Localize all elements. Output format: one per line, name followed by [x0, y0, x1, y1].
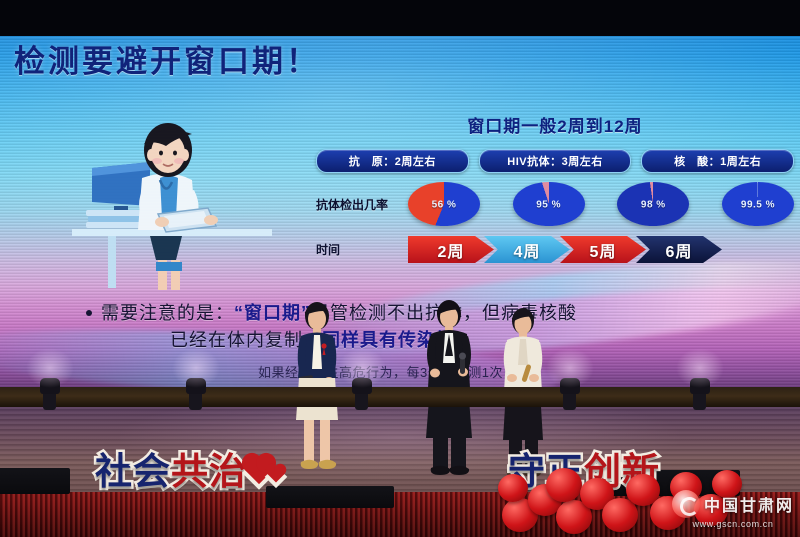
heart-icon-small [268, 466, 285, 483]
timeline-chevron-6weeks: 6周 [636, 236, 722, 263]
lighting-truss [0, 387, 800, 407]
top-black-bar [0, 0, 800, 36]
pie-value-label: 99.5 % [722, 200, 794, 211]
pie-chart-5weeks: 98 % [617, 182, 689, 226]
pill-antigen: 抗 原：2周左右 [316, 149, 469, 173]
screenshot-root: 检测要避开窗口期！ [0, 0, 800, 537]
watermark: 中国甘肃网 www.gscn.com.cn [672, 490, 794, 529]
pill-hiv-antibody: HIV抗体：3周左右 [479, 149, 632, 173]
pie-chart-6weeks: 99.5 % [722, 182, 794, 226]
bullet-text-prefix: 需要注意的是： [101, 303, 234, 323]
watermark-url: www.gscn.com.cn [672, 519, 794, 529]
pie-chart-row: 抗体检出几率 56 % 95 % 98 % 99.5 % [316, 182, 794, 226]
timeline-chevron-5weeks: 5周 [560, 236, 646, 263]
pie-chart-2weeks: 56 % [408, 182, 480, 226]
stage-monitor-left [0, 468, 70, 494]
gscn-logo-icon [672, 490, 700, 518]
prop-char: 会 [133, 452, 171, 492]
female-doctor-at-desk-illustration [72, 110, 282, 290]
slide-info-panel: 窗口期一般2周到12周 抗 原：2周左右 HIV抗体：3周左右 核 酸：1周左右… [316, 112, 794, 263]
prop-char: 社 [95, 452, 133, 492]
moving-light-far-right [690, 378, 710, 410]
marker-pills-group: 抗 原：2周左右 HIV抗体：3周左右 核 酸：1周左右 [316, 149, 794, 173]
prop-char: 共 [171, 452, 209, 492]
foam-prop-left: 社会共治 [95, 452, 282, 492]
bullet-dot-icon [86, 310, 92, 316]
pie-value-label: 98 % [617, 200, 689, 211]
stage-monitor-center [266, 486, 394, 508]
pie-chart-4weeks: 95 % [513, 182, 585, 226]
moving-light-right [560, 378, 580, 410]
watermark-site-name: 中国甘肃网 [704, 492, 794, 516]
pie-row-label: 抗体检出几率 [316, 196, 408, 213]
pie-value-label: 95 % [513, 200, 585, 211]
pie-chart-group: 56 % 95 % 98 % 99.5 % [408, 182, 794, 226]
pie-value-label: 56 % [408, 200, 480, 211]
pill-nucleic-acid: 核 酸：1周左右 [641, 149, 794, 173]
slide-headline: 检测要避开窗口期！ [14, 46, 320, 77]
moving-light-left [40, 378, 60, 410]
prop-char: 治 [209, 452, 247, 492]
timeline-chevrons: 2周 4周 5周 6周 [408, 236, 794, 263]
timeline-chevron-2weeks: 2周 [408, 236, 494, 263]
time-row-label: 时间 [316, 241, 408, 258]
timeline-chevron-4weeks: 4周 [484, 236, 570, 263]
timeline-row: 时间 2周 4周 5周 6周 [316, 236, 794, 263]
panel-title: 窗口期一般2周到12周 [316, 112, 794, 137]
moving-light-center [352, 378, 372, 410]
moving-light-center-left [186, 378, 206, 410]
